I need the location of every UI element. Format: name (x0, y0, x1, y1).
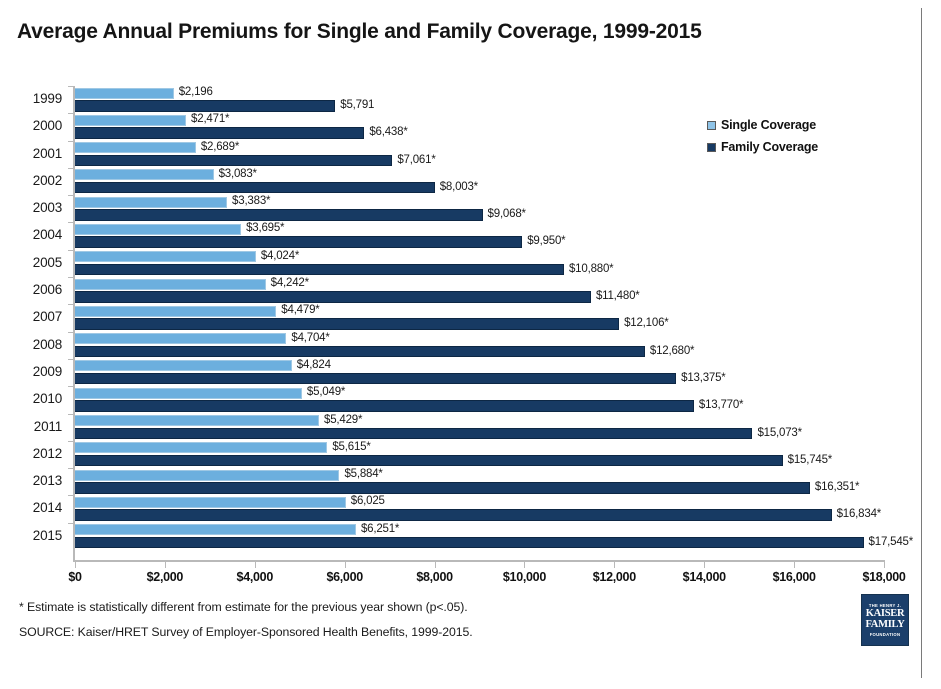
bar-single (75, 333, 286, 344)
chart-row: 1999$2,196$5,791 (0, 86, 921, 113)
chart-row: 2010$5,049*$13,770* (0, 386, 921, 413)
bar-value-label: $5,049* (307, 386, 345, 398)
bar-family (75, 264, 564, 276)
bar-value-label: $17,545* (869, 536, 913, 548)
chart-row: 2014$6,025$16,834* (0, 495, 921, 522)
page-title: Average Annual Premiums for Single and F… (17, 18, 837, 46)
x-axis-tick (524, 562, 525, 568)
x-axis-tick (704, 562, 705, 568)
bar-single (75, 415, 319, 426)
bar-value-label: $3,383* (232, 195, 270, 207)
bar-value-label: $5,791 (340, 99, 374, 111)
chart-legend: Single Coverage Family Coverage (707, 114, 818, 158)
bar-value-label: $12,680* (650, 345, 694, 357)
bar-single (75, 442, 327, 453)
bar-single (75, 88, 174, 99)
legend-swatch-family-icon (707, 143, 716, 152)
bar-family (75, 346, 645, 358)
logo-line-2: FAMILY (865, 620, 904, 631)
bar-single (75, 497, 346, 508)
bar-single (75, 197, 227, 208)
bar-family (75, 318, 619, 330)
bar-value-label: $6,438* (369, 126, 407, 138)
y-axis-tick (68, 523, 74, 524)
year-label: 2014 (0, 500, 62, 515)
bar-value-label: $16,834* (837, 508, 881, 520)
x-axis-tick-label: $12,000 (593, 570, 636, 584)
bar-value-label: $3,695* (246, 222, 284, 234)
legend-label-family: Family Coverage (721, 140, 818, 154)
bar-single (75, 360, 292, 371)
bar-value-label: $16,351* (815, 481, 859, 493)
chart-row: 2005$4,024*$10,880* (0, 250, 921, 277)
y-axis-tick (68, 495, 74, 496)
x-axis-tick (165, 562, 166, 568)
year-label: 2002 (0, 173, 62, 188)
bar-single (75, 169, 214, 180)
year-label: 2010 (0, 391, 62, 406)
year-label: 2001 (0, 146, 62, 161)
x-axis: $0$2,000$4,000$6,000$8,000$10,000$12,000… (0, 560, 921, 594)
bar-single (75, 524, 356, 535)
bar-single (75, 470, 339, 481)
bar-family (75, 182, 435, 194)
x-axis-tick (614, 562, 615, 568)
bar-family (75, 400, 694, 412)
year-label: 2007 (0, 309, 62, 324)
bar-value-label: $6,025 (351, 495, 385, 507)
bar-family (75, 291, 591, 303)
chart-row: 2008$4,704*$12,680* (0, 332, 921, 359)
y-axis-tick (68, 277, 74, 278)
year-label: 2005 (0, 255, 62, 270)
bar-family (75, 455, 783, 467)
x-axis-tick-label: $16,000 (773, 570, 816, 584)
bar-family (75, 428, 752, 440)
year-label: 2009 (0, 364, 62, 379)
bar-value-label: $3,083* (219, 168, 257, 180)
y-axis-tick (68, 141, 74, 142)
bar-value-label: $13,375* (681, 372, 725, 384)
x-axis-tick (255, 562, 256, 568)
bar-value-label: $2,471* (191, 113, 229, 125)
bar-value-label: $5,615* (332, 441, 370, 453)
bar-family (75, 482, 810, 494)
y-axis-tick (68, 222, 74, 223)
y-axis-tick (68, 304, 74, 305)
y-axis-tick (68, 359, 74, 360)
bar-value-label: $4,242* (271, 277, 309, 289)
chart-row: 2013$5,884*$16,351* (0, 468, 921, 495)
bar-single (75, 306, 276, 317)
bar-family (75, 509, 832, 521)
bar-family (75, 127, 364, 139)
x-axis-tick (435, 562, 436, 568)
bar-value-label: $4,479* (281, 304, 319, 316)
chart-row: 2007$4,479*$12,106* (0, 304, 921, 331)
chart-row: 2006$4,242*$11,480* (0, 277, 921, 304)
bar-value-label: $2,196 (179, 86, 213, 98)
right-border-rule (921, 8, 922, 678)
y-axis-tick (68, 332, 74, 333)
year-label: 2011 (0, 419, 62, 434)
year-label: 2012 (0, 446, 62, 461)
bar-value-label: $9,950* (527, 235, 565, 247)
y-axis-tick (68, 441, 74, 442)
chart-row: 2003$3,383*$9,068* (0, 195, 921, 222)
bar-family (75, 537, 864, 549)
bar-value-label: $5,884* (344, 468, 382, 480)
year-label: 2004 (0, 227, 62, 242)
x-axis-tick (884, 562, 885, 568)
bar-value-label: $4,704* (291, 332, 329, 344)
bar-value-label: $11,480* (596, 290, 640, 302)
year-label: 2000 (0, 118, 62, 133)
bar-single (75, 388, 302, 399)
bar-value-label: $2,689* (201, 141, 239, 153)
bar-value-label: $4,024* (261, 250, 299, 262)
bar-value-label: $6,251* (361, 523, 399, 535)
x-axis-tick (794, 562, 795, 568)
y-axis-tick (68, 86, 74, 87)
y-axis-tick (68, 195, 74, 196)
bar-value-label: $15,745* (788, 454, 832, 466)
chart-row: 2009$4,824$13,375* (0, 359, 921, 386)
bar-single (75, 115, 186, 126)
logo-bottom-text: FOUNDATION (870, 632, 901, 637)
y-axis-tick (68, 386, 74, 387)
kaiser-family-foundation-logo: THE HENRY J. KAISER FAMILY FOUNDATION (861, 594, 909, 646)
y-axis-tick (68, 414, 74, 415)
year-label: 2013 (0, 473, 62, 488)
x-axis-tick-label: $14,000 (683, 570, 726, 584)
chart-row: 2002$3,083*$8,003* (0, 168, 921, 195)
chart-row: 2012$5,615*$15,745* (0, 441, 921, 468)
bar-value-label: $13,770* (699, 399, 743, 411)
legend-item-single: Single Coverage (707, 114, 818, 136)
year-label: 2008 (0, 337, 62, 352)
bar-family (75, 373, 676, 385)
year-label: 1999 (0, 91, 62, 106)
bar-family (75, 209, 483, 221)
footnote-statistical-note: * Estimate is statistically different fr… (19, 600, 468, 614)
bar-value-label: $5,429* (324, 414, 362, 426)
x-axis-tick-label: $8,000 (416, 570, 452, 584)
bar-family (75, 236, 522, 248)
chart-row: 2004$3,695*$9,950* (0, 222, 921, 249)
x-axis-tick (345, 562, 346, 568)
bar-value-label: $10,880* (569, 263, 613, 275)
x-axis-tick-label: $6,000 (326, 570, 362, 584)
bar-value-label: $8,003* (440, 181, 478, 193)
year-label: 2003 (0, 200, 62, 215)
bar-value-label: $7,061* (397, 154, 435, 166)
footnote-source: SOURCE: Kaiser/HRET Survey of Employer-S… (19, 625, 473, 639)
y-axis-tick (68, 168, 74, 169)
x-axis-tick-label: $18,000 (862, 570, 905, 584)
x-axis-line (73, 560, 885, 562)
chart-page: Average Annual Premiums for Single and F… (0, 0, 941, 689)
x-axis-tick-label: $2,000 (147, 570, 183, 584)
bar-single (75, 142, 196, 153)
legend-label-single: Single Coverage (721, 118, 816, 132)
bar-value-label: $4,824 (297, 359, 331, 371)
bar-family (75, 100, 335, 112)
bar-value-label: $15,073* (757, 427, 801, 439)
x-axis-tick-label: $0 (68, 570, 81, 584)
y-axis-tick (68, 250, 74, 251)
bar-value-label: $9,068* (488, 208, 526, 220)
bar-single (75, 224, 241, 235)
y-axis-tick (68, 468, 74, 469)
bar-family (75, 155, 392, 167)
y-axis-tick (68, 113, 74, 114)
x-axis-tick (75, 562, 76, 568)
x-axis-tick-label: $4,000 (237, 570, 273, 584)
year-label: 2015 (0, 528, 62, 543)
bar-single (75, 251, 256, 262)
x-axis-tick-label: $10,000 (503, 570, 546, 584)
chart-row: 2011$5,429*$15,073* (0, 414, 921, 441)
bar-value-label: $12,106* (624, 317, 668, 329)
chart-row: 2015$6,251*$17,545* (0, 523, 921, 550)
legend-swatch-single-icon (707, 121, 716, 130)
legend-item-family: Family Coverage (707, 136, 818, 158)
bar-single (75, 279, 266, 290)
year-label: 2006 (0, 282, 62, 297)
